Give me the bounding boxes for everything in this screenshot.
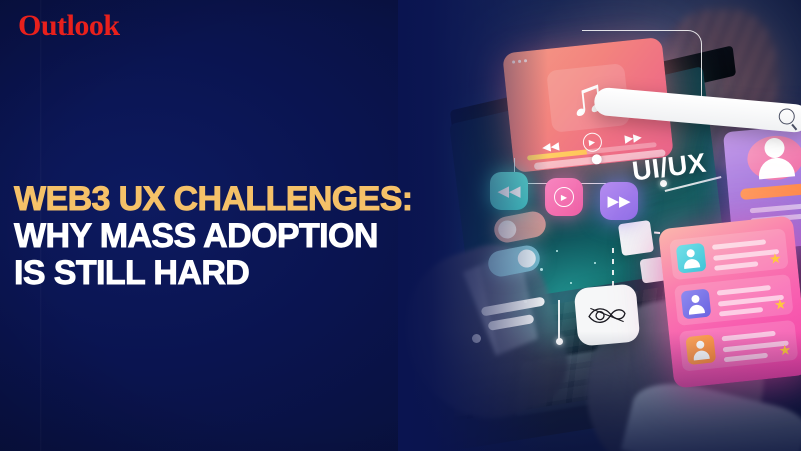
fast-forward-icon[interactable]: ▶▶ [624,130,642,145]
contact-row[interactable]: ★ [669,228,789,280]
white-square-card [618,220,654,256]
profile-text-line [750,203,801,213]
profile-accent-bar [740,183,801,200]
article-hero-banner: ♫ ◀◀ ▶ ▶▶ ◀◀ ▶ ▶▶ [0,0,801,451]
sparkle [570,282,572,284]
contact-text-line [712,239,766,250]
headline-line-3: IS STILL HARD [14,255,413,292]
contact-text-line [717,285,771,296]
outlook-logo[interactable]: Outlook [18,9,120,43]
headline-line-2: WHY MASS ADOPTION [14,218,413,255]
contact-row[interactable]: ★ [674,274,794,326]
sparkle [556,250,558,252]
eye-sketch-icon [586,301,628,328]
search-icon [778,108,795,125]
user-avatar-purple [681,289,712,320]
fast-forward-button[interactable]: ▶▶ [600,182,638,220]
sparkle [594,262,596,264]
dashed-connector [612,248,614,286]
page-title: WEB3 UX CHALLENGES: WHY MASS ADOPTION IS… [14,181,413,292]
contact-text-line [719,307,763,317]
play-icon: ▶ [554,187,574,207]
user-avatar-teal [676,243,707,274]
star-icon: ★ [768,251,782,266]
contact-text-line [714,261,758,271]
play-button[interactable]: ▶ [545,178,583,216]
headline-line-1: WEB3 UX CHALLENGES: [14,181,413,218]
left-feather-fade [398,0,548,451]
star-icon: ★ [773,297,787,312]
